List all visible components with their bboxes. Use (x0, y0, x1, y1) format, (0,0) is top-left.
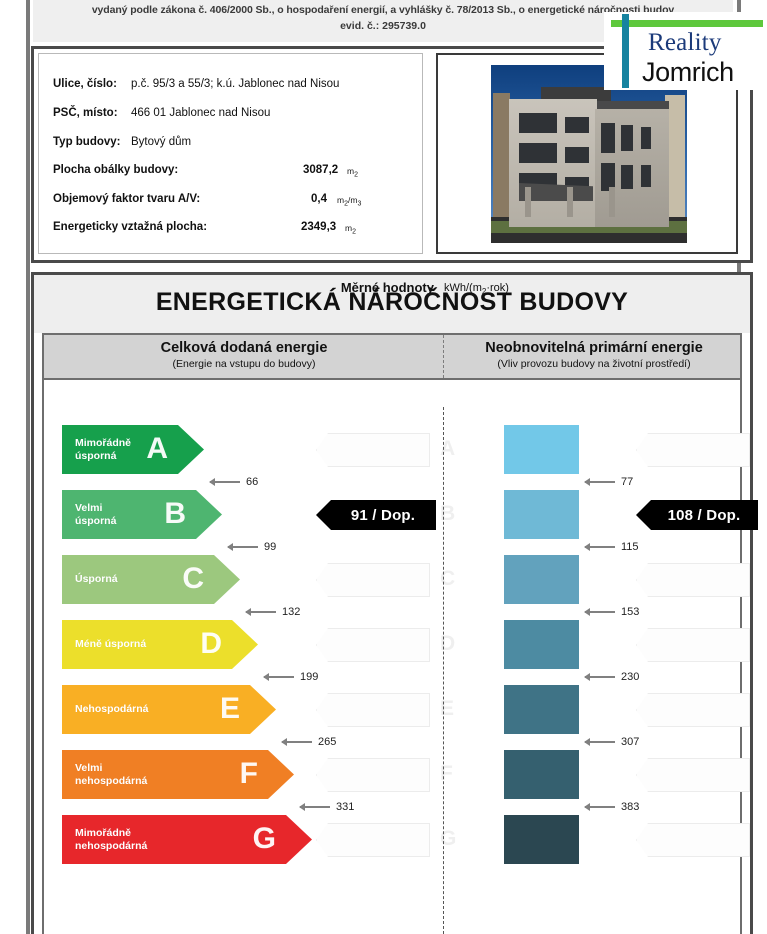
boundary-arrow-icon (585, 806, 615, 808)
boundary-marker-right: 383 (585, 801, 639, 813)
primary-energy-block-C (504, 555, 579, 604)
boundary-marker-right: 307 (585, 736, 639, 748)
boundary-arrow-icon (585, 611, 615, 613)
energy-class-letter: D (200, 629, 222, 659)
energy-class-label: Velmiúsporná (75, 502, 116, 527)
energy-class-letter: G (253, 824, 276, 854)
primary-energy-block-E (504, 685, 579, 734)
boundary-arrow-icon (246, 611, 276, 613)
result-placeholder-left-F (316, 758, 430, 792)
boundary-value: 77 (621, 476, 633, 488)
detail-value: 0,4 (311, 193, 327, 205)
column-headers: Celková dodaná energie(Energie na vstupu… (42, 333, 742, 380)
boundary-marker-left: 132 (246, 606, 300, 618)
energy-class-label: Nehospodárná (75, 703, 149, 716)
result-badge-primary-energy: 108 / Dop. (636, 500, 758, 530)
column-header-delivered-energy: Celková dodaná energie(Energie na vstupu… (44, 339, 444, 371)
boundary-value: 115 (621, 541, 639, 553)
energy-class-label: Mimořádněúsporná (75, 437, 131, 462)
placeholder-letter-left-F: F (440, 762, 453, 786)
detail-row: Plocha obálky budovy:3087,2m2 (53, 164, 178, 176)
primary-energy-block-D (504, 620, 579, 669)
building-photo (491, 65, 687, 243)
certificate-page: vydaný podle zákona č. 406/2000 Sb., o h… (0, 0, 767, 934)
energy-class-letter: E (220, 694, 240, 724)
units-label: Měrné hodnoty (34, 280, 434, 295)
boundary-marker-left: 331 (300, 801, 354, 813)
detail-label: Plocha obálky budovy: (53, 164, 178, 176)
detail-label: Energeticky vztažná plocha: (53, 221, 207, 233)
energy-class-bar-E: NehospodárnáE (62, 685, 276, 734)
primary-energy-block-B (504, 490, 579, 539)
logo-green-bar (611, 20, 763, 27)
company-logo: Reality Jomrich (604, 12, 767, 90)
boundary-marker-left: 265 (282, 736, 336, 748)
energy-class-letter: C (182, 564, 204, 594)
result-placeholder-left-C (316, 563, 430, 597)
boundary-arrow-icon (228, 546, 258, 548)
energy-class-letter: F (240, 759, 258, 789)
result-placeholder-right-D (636, 628, 750, 662)
energy-class-bar-D: Méně úspornáD (62, 620, 258, 669)
detail-value: 2349,3 (301, 221, 336, 233)
result-placeholder-left-G (316, 823, 430, 857)
boundary-arrow-icon (585, 741, 615, 743)
detail-row: PSČ, místo:466 01 Jablonec nad Nisou (53, 107, 118, 119)
column-header-title: Celková dodaná energie (44, 339, 444, 357)
primary-energy-block-G (504, 815, 579, 864)
detail-row: Objemový faktor tvaru A/V:0,4m2/m3 (53, 193, 200, 205)
energy-class-letter: A (146, 434, 168, 464)
boundary-arrow-icon (210, 481, 240, 483)
boundary-value: 99 (264, 541, 276, 553)
result-placeholder-right-A (636, 433, 750, 467)
boundary-marker-right: 230 (585, 671, 639, 683)
result-placeholder-right-G (636, 823, 750, 857)
energy-class-letter: B (164, 499, 186, 529)
detail-label: Ulice, číslo: (53, 78, 117, 90)
result-badge-value: 108 / Dop. (654, 507, 741, 524)
boundary-marker-left: 99 (228, 541, 276, 553)
column-header-divider (443, 335, 444, 378)
boundary-marker-right: 77 (585, 476, 633, 488)
result-placeholder-right-C (636, 563, 750, 597)
boundary-value: 66 (246, 476, 258, 488)
boundary-arrow-icon (264, 676, 294, 678)
logo-text-reality: Reality (648, 29, 722, 57)
energy-performance-panel: ENERGETICKÁ NÁROČNOST BUDOVY Celková dod… (31, 272, 753, 934)
energy-class-label: Méně úsporná (75, 638, 146, 651)
energy-class-label: Mimořádněnehospodárná (75, 827, 147, 852)
units-row (42, 380, 742, 407)
page-rail-left (26, 0, 30, 934)
boundary-value: 132 (282, 606, 300, 618)
detail-value: p.č. 95/3 a 55/3; k.ú. Jablonec nad Niso… (131, 78, 339, 90)
detail-unit: m2/m3 (337, 195, 361, 208)
energy-class-bar-B: VelmiúspornáB (62, 490, 222, 539)
boundary-arrow-icon (300, 806, 330, 808)
result-placeholder-left-E (316, 693, 430, 727)
detail-value: Bytový dům (131, 136, 191, 148)
boundary-arrow-icon (585, 546, 615, 548)
energy-class-bar-A: MimořádněúspornáA (62, 425, 204, 474)
detail-unit: m2 (345, 223, 356, 236)
building-details-panel: Ulice, číslo:p.č. 95/3 a 55/3; k.ú. Jabl… (38, 53, 423, 254)
detail-row: Ulice, číslo:p.č. 95/3 a 55/3; k.ú. Jabl… (53, 78, 117, 90)
detail-value: 466 01 Jablonec nad Nisou (131, 107, 270, 119)
result-placeholder-right-F (636, 758, 750, 792)
boundary-marker-left: 66 (210, 476, 258, 488)
column-header-subtitle: (Energie na vstupu do budovy) (44, 357, 444, 371)
result-badge-delivered-energy: 91 / Dop. (316, 500, 436, 530)
boundary-value: 265 (318, 736, 336, 748)
energy-class-bar-G: MimořádněnehospodárnáG (62, 815, 312, 864)
primary-energy-block-A (504, 425, 579, 474)
detail-row: Energeticky vztažná plocha:2349,3m2 (53, 221, 207, 233)
boundary-value: 383 (621, 801, 639, 813)
result-placeholder-right-E (636, 693, 750, 727)
boundary-marker-right: 115 (585, 541, 639, 553)
column-header-primary-energy: Neobnovitelná primární energie(Vliv prov… (446, 339, 742, 371)
boundary-marker-right: 153 (585, 606, 639, 618)
boundary-value: 199 (300, 671, 318, 683)
energy-scale-body: MimořádněúspornáAVelmiúspornáBÚspornáCMé… (42, 407, 742, 934)
logo-teal-bar (622, 14, 629, 88)
energy-class-bar-C: ÚspornáC (62, 555, 240, 604)
energy-class-label: Úsporná (75, 573, 118, 586)
result-badge-value: 91 / Dop. (337, 507, 415, 524)
energy-class-label: Velminehospodárná (75, 762, 147, 787)
boundary-arrow-icon (585, 676, 615, 678)
detail-label: PSČ, místo: (53, 107, 118, 119)
primary-energy-block-F (504, 750, 579, 799)
detail-label: Typ budovy: (53, 136, 121, 148)
detail-unit: m2 (347, 166, 358, 179)
detail-label: Objemový faktor tvaru A/V: (53, 193, 200, 205)
logo-text-jomrich: Jomrich (642, 57, 734, 88)
boundary-arrow-icon (585, 481, 615, 483)
result-placeholder-left-A (316, 433, 430, 467)
boundary-value: 153 (621, 606, 639, 618)
result-placeholder-left-D (316, 628, 430, 662)
units-value: kWh/(m2·rok) (444, 282, 509, 296)
detail-row: Typ budovy:Bytový dům (53, 136, 121, 148)
boundary-marker-left: 199 (264, 671, 318, 683)
center-divider (443, 407, 444, 934)
detail-value: 3087,2 (303, 164, 338, 176)
energy-class-bar-F: VelminehospodárnáF (62, 750, 294, 799)
boundary-value: 230 (621, 671, 639, 683)
boundary-value: 331 (336, 801, 354, 813)
column-header-title: Neobnovitelná primární energie (446, 339, 742, 357)
column-header-subtitle: (Vliv provozu budovy na životní prostřed… (446, 357, 742, 371)
boundary-value: 307 (621, 736, 639, 748)
boundary-arrow-icon (282, 741, 312, 743)
